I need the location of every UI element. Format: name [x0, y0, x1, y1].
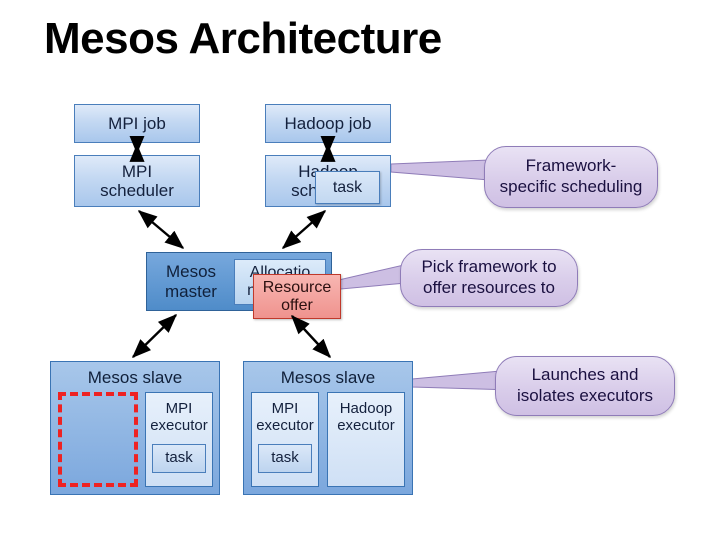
callout-framework-specific-scheduling-label: Framework- specific scheduling: [500, 156, 643, 197]
arrow-hadoop-scheduler-master: [283, 211, 325, 248]
mesos-slave-2-mpi-task-label: task: [271, 450, 299, 467]
mesos-slave-1-mpi-task-box[interactable]: task: [152, 444, 206, 473]
hadoop-job-box[interactable]: Hadoop job: [265, 104, 391, 143]
callout-framework-specific-scheduling[interactable]: Framework- specific scheduling: [484, 146, 658, 208]
callout-pick-framework-label: Pick framework to offer resources to: [421, 257, 556, 298]
mpi-job-box[interactable]: MPI job: [74, 104, 200, 143]
mesos-slave-1-mpi-executor-label: MPI executor: [150, 401, 208, 435]
callout-launches-isolates[interactable]: Launches and isolates executors: [495, 356, 675, 416]
mesos-slave-1-title: Mesos slave: [51, 368, 219, 387]
mesos-slave-2-hadoop-executor-box[interactable]: Hadoop executor: [327, 392, 405, 487]
mesos-master-label: Mesos master: [147, 262, 235, 300]
hadoop-floating-task-label: task: [333, 179, 362, 197]
callout-pick-framework[interactable]: Pick framework to offer resources to: [400, 249, 578, 307]
hadoop-job-label: Hadoop job: [285, 114, 372, 133]
page-title: Mesos Architecture: [44, 14, 442, 64]
hadoop-floating-task-box[interactable]: task: [315, 171, 380, 204]
resource-offer-label: Resource offer: [263, 279, 331, 315]
callout-launches-isolates-label: Launches and isolates executors: [517, 365, 653, 406]
arrow-mpi-scheduler-master: [139, 211, 183, 248]
slide-canvas: Mesos Architecture MPI job Hadoop job MP…: [0, 0, 721, 540]
mesos-slave-2-hadoop-executor-label: Hadoop executor: [337, 401, 395, 435]
mesos-slave-1-mpi-executor-box[interactable]: MPI executor task: [145, 392, 213, 487]
framework-callout-tail: [391, 160, 489, 180]
mpi-scheduler-label: MPI scheduler: [100, 162, 174, 200]
mesos-slave-1-empty-slot: [58, 392, 138, 487]
resource-offer-box[interactable]: Resource offer: [253, 274, 341, 319]
arrow-master-slave-1: [133, 315, 176, 357]
mpi-scheduler-box[interactable]: MPI scheduler: [74, 155, 200, 207]
mesos-slave-2-title: Mesos slave: [244, 368, 412, 387]
mpi-job-label: MPI job: [108, 114, 166, 133]
mesos-slave-2-mpi-task-box[interactable]: task: [258, 444, 312, 473]
mesos-slave-2-mpi-executor-box[interactable]: MPI executor task: [251, 392, 319, 487]
mesos-slave-1-mpi-task-label: task: [165, 450, 193, 467]
arrow-master-slave-2: [292, 316, 330, 357]
mesos-slave-2-mpi-executor-label: MPI executor: [256, 401, 314, 435]
